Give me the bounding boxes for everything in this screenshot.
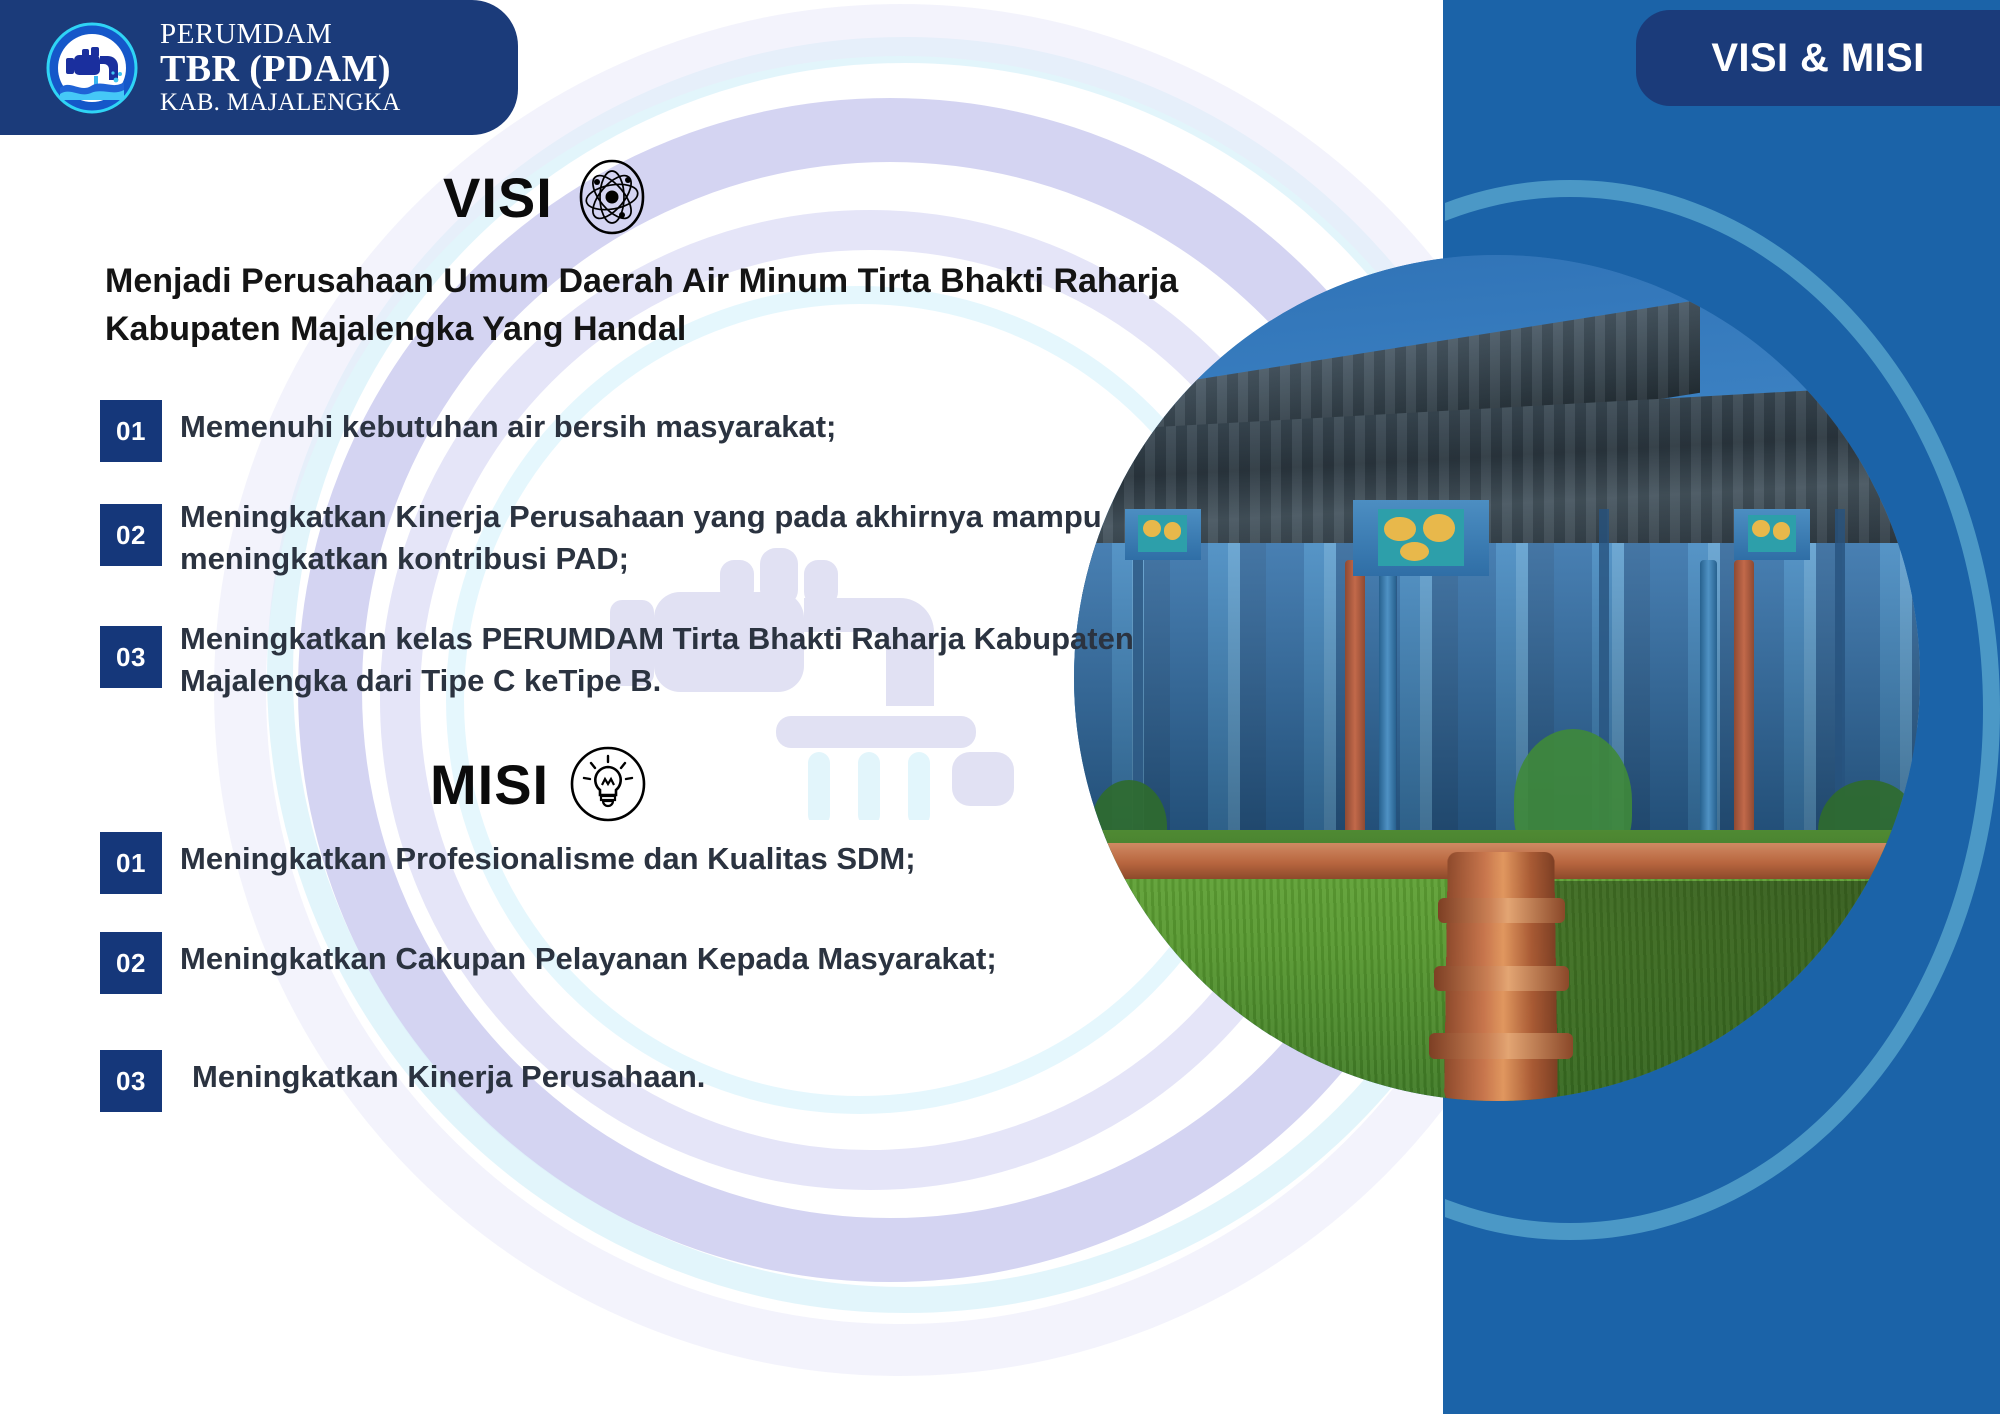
visi-item-1-text: Memenuhi kebutuhan air bersih masyarakat… — [180, 400, 836, 448]
brand-line-3: KAB. MAJALENGKA — [160, 90, 401, 117]
misi-item-3-text: Meningkatkan Kinerja Perusahaan. — [180, 1050, 705, 1098]
visi-item-2-text: Meningkatkan Kinerja Perusahaan yang pad… — [180, 490, 1300, 580]
lightbulb-idea-icon — [569, 745, 647, 823]
misi-item-1-number: 01 — [100, 832, 162, 894]
visi-label: VISI — [443, 165, 553, 230]
misi-item-3-number: 03 — [100, 1050, 162, 1112]
misi-item-1-text: Meningkatkan Profesionalisme dan Kualita… — [180, 832, 916, 880]
misi-item-1: 01 Meningkatkan Profesionalisme dan Kual… — [100, 832, 1300, 894]
vision-statement: Menjadi Perusahaan Umum Daerah Air Minum… — [105, 258, 1275, 353]
visi-item-2-number: 02 — [100, 504, 162, 566]
water-tap-logo-icon — [46, 22, 138, 114]
visi-item-3-number: 03 — [100, 626, 162, 688]
visi-section-header: VISI — [443, 158, 651, 236]
brand-line-1: PERUMDAM — [160, 19, 401, 50]
visi-item-1-number: 01 — [100, 400, 162, 462]
visi-item-1: 01 Memenuhi kebutuhan air bersih masyara… — [100, 400, 1300, 462]
page-title: VISI & MISI — [1711, 36, 1924, 81]
misi-item-2-number: 02 — [100, 932, 162, 994]
misi-section-header: MISI — [430, 745, 647, 823]
misi-item-2-text: Meningkatkan Cakupan Pelayanan Kepada Ma… — [180, 932, 997, 980]
misi-label: MISI — [430, 752, 549, 817]
visi-item-2: 02 Meningkatkan Kinerja Perusahaan yang … — [100, 490, 1300, 580]
misi-item-2: 02 Meningkatkan Cakupan Pelayanan Kepada… — [100, 932, 1300, 994]
misi-item-3: 03 Meningkatkan Kinerja Perusahaan. — [100, 1050, 1300, 1112]
visi-item-3-text: Meningkatkan kelas PERUMDAM Tirta Bhakti… — [180, 612, 1300, 702]
page-title-pill: VISI & MISI — [1636, 10, 2000, 106]
atom-orbit-icon — [573, 158, 651, 236]
visi-item-3: 03 Meningkatkan kelas PERUMDAM Tirta Bha… — [100, 612, 1300, 702]
brand-logo-pill: PERUMDAM TBR (PDAM) KAB. MAJALENGKA — [0, 0, 518, 135]
brand-line-2: TBR (PDAM) — [160, 49, 401, 89]
content-area: VISI Menjadi Perusahaan Umum Daerah Air … — [0, 0, 1443, 1414]
